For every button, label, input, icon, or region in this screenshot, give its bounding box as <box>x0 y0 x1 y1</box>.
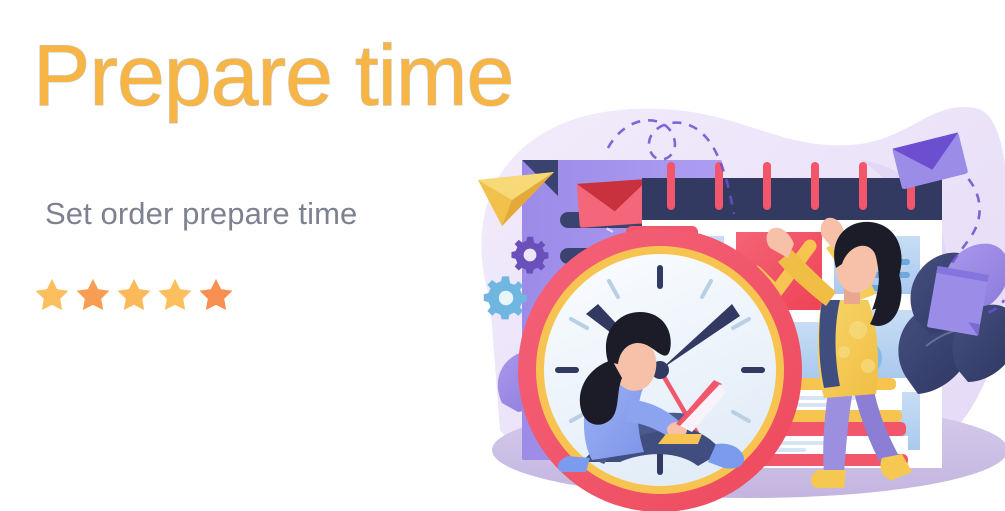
calendar-ring <box>667 162 675 210</box>
calendar-header <box>642 178 942 220</box>
star-icon[interactable] <box>156 276 194 314</box>
calendar-ring <box>811 162 819 210</box>
purple-note <box>927 266 989 336</box>
star-icon[interactable] <box>197 276 235 314</box>
star-icon[interactable] <box>33 276 71 314</box>
star-icon[interactable] <box>74 276 112 314</box>
star-rating[interactable] <box>33 276 235 314</box>
text-column: Prepare time Set order prepare time <box>0 0 470 511</box>
promo-banner: Prepare time Set order prepare time <box>0 0 1005 511</box>
time-management-illustration <box>430 0 1005 511</box>
star-icon[interactable] <box>115 276 153 314</box>
page-title: Prepare time <box>33 33 513 119</box>
calendar-ring <box>859 162 867 210</box>
calendar-ring <box>763 162 771 210</box>
shoe <box>811 470 846 488</box>
red-envelope-icon <box>577 179 652 228</box>
page-subtitle: Set order prepare time <box>45 196 357 232</box>
